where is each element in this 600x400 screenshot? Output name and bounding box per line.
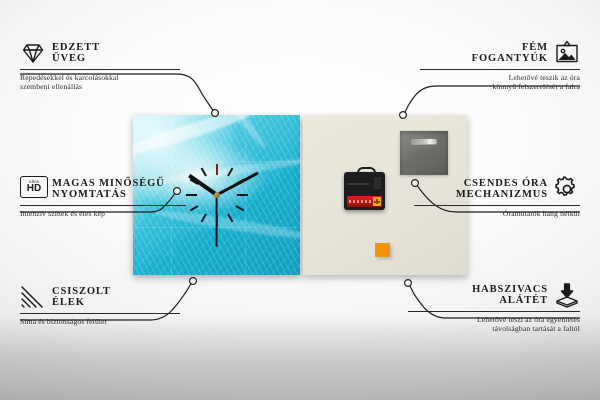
- feature-high-quality-print: ultra HD MAGAS MINŐSÉGŰ NYOMTATÁS Intenz…: [20, 176, 186, 218]
- diamond-icon: [20, 40, 46, 66]
- feature-silent-mechanism: CSENDES ÓRA MECHANIZMUS Óramutatók hang …: [414, 176, 580, 218]
- feature-title-2: ALÁTÉT: [472, 295, 548, 307]
- feature-desc: Lehetővé teszi az óra egyenletes: [408, 315, 580, 324]
- feature-title: FÉM: [472, 42, 548, 54]
- feature-title-2: MECHANIZMUS: [456, 189, 548, 201]
- feature-title: CSENDES ÓRA: [456, 178, 548, 190]
- feature-desc-2: könnyű felszerelését a falra: [420, 82, 580, 91]
- feature-desc-2: távolságban tartását a faltól: [408, 324, 580, 333]
- feature-title: HABSZIVACS: [472, 284, 548, 296]
- feature-foam-backing: HABSZIVACS ALÁTÉT Lehetővé teszi az óra …: [408, 282, 580, 334]
- feature-title-2: FOGANTYÚK: [472, 53, 548, 65]
- picture-frame-icon: [554, 40, 580, 66]
- feature-rule: [20, 313, 180, 314]
- feature-polished-edges: CSISZOLT ÉLEK Sima és biztonságos felüle…: [20, 284, 180, 326]
- feature-desc: Lehetővé teszik az óra: [420, 73, 580, 82]
- feature-rule: [20, 205, 186, 206]
- feature-rule: [408, 311, 580, 312]
- feature-rule: [20, 69, 180, 70]
- infographic-canvas: EDZETT ÜVEG Repedésekkel és karcolásokka…: [0, 0, 600, 400]
- feature-rule: [420, 69, 580, 70]
- feature-title: MAGAS MINŐSÉGŰ: [52, 178, 165, 190]
- feature-desc: Sima és biztonságos felület: [20, 317, 180, 326]
- feature-title-2: ÉLEK: [52, 297, 111, 309]
- feature-title: CSISZOLT: [52, 286, 111, 298]
- feature-desc: Intenzív színek és éles kép: [20, 209, 186, 218]
- gear-icon: [554, 176, 580, 202]
- feature-desc-2: szembeni ellenállás: [20, 82, 180, 91]
- feature-metal-handles: FÉM FOGANTYÚK Lehetővé teszik az óra kön…: [420, 40, 580, 92]
- hd-badge-large: HD: [27, 184, 41, 194]
- feature-desc: Óramutatók hang nélkül: [414, 209, 580, 218]
- ultra-hd-icon: ultra HD: [20, 176, 46, 202]
- feature-tempered-glass: EDZETT ÜVEG Repedésekkel és karcolásokka…: [20, 40, 180, 92]
- feature-rule: [414, 205, 580, 206]
- feature-desc: Repedésekkel és karcolásokkal: [20, 73, 180, 82]
- feature-title: EDZETT: [52, 42, 100, 54]
- foam-pad-arrow-icon: [554, 282, 580, 308]
- hatched-edge-icon: [20, 284, 46, 310]
- feature-title-2: ÜVEG: [52, 53, 100, 65]
- feature-title-2: NYOMTATÁS: [52, 189, 165, 201]
